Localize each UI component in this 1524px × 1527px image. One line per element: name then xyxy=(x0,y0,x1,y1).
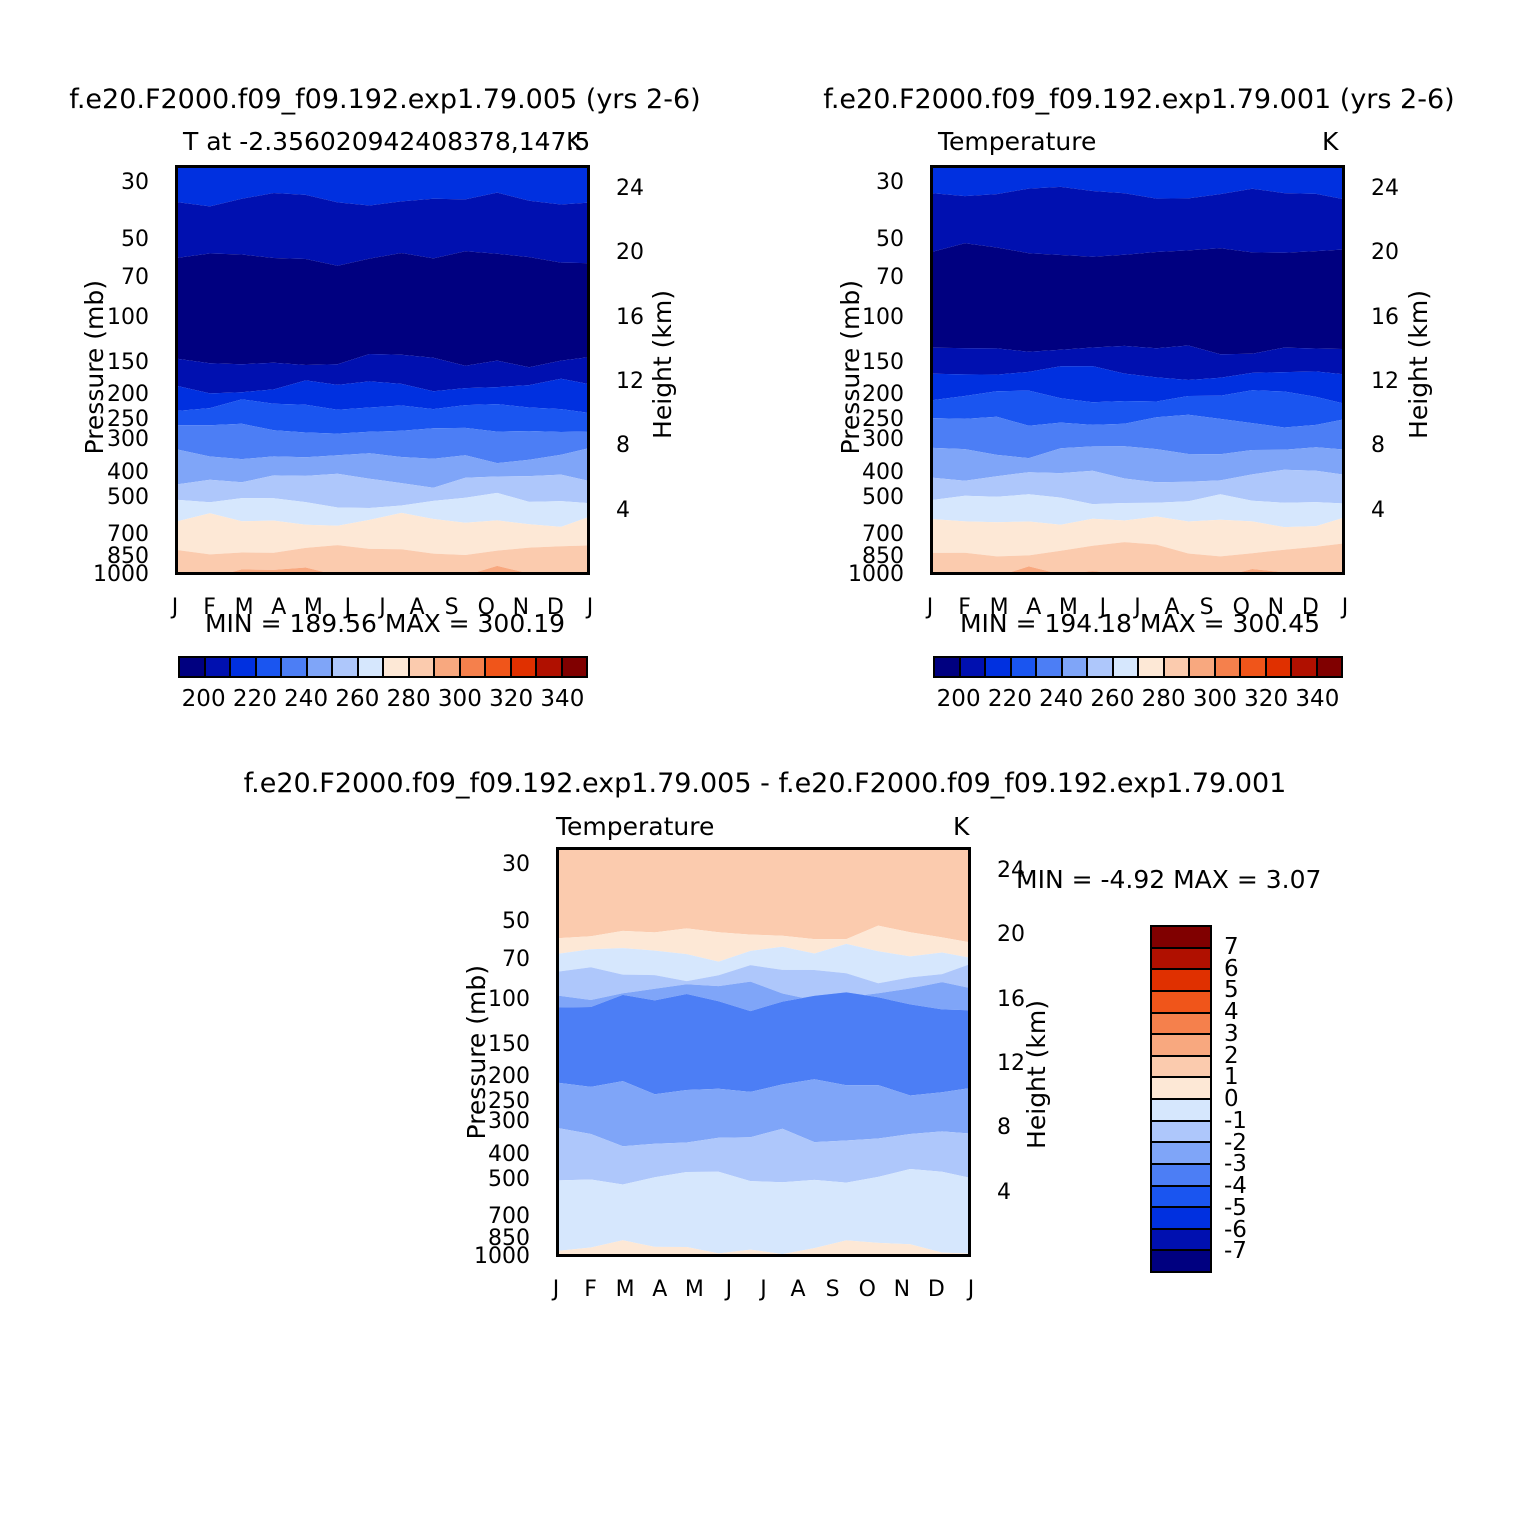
colorbar-swatch xyxy=(1152,1078,1210,1100)
month-tick-label: F xyxy=(950,595,980,620)
height-tick-label: 24 xyxy=(1371,176,1399,201)
pressure-tick-label: 70 xyxy=(502,947,530,972)
panel-title-case-005: f.e20.F2000.f09_f09.192.exp1.79.005 (yrs… xyxy=(10,84,760,115)
colorbar-swatch xyxy=(512,658,538,676)
month-tick xyxy=(246,165,249,168)
colorbar-swatch xyxy=(435,658,461,676)
pressure-tick-label: 70 xyxy=(876,265,904,290)
height-tick-label: 20 xyxy=(1371,240,1399,265)
month-tick xyxy=(211,165,214,168)
month-tick xyxy=(869,847,872,850)
panel-title-difference: f.e20.F2000.f09_f09.192.exp1.79.005 - f.… xyxy=(140,768,1390,799)
pressure-tick xyxy=(930,422,933,425)
pressure-tick-label: 500 xyxy=(488,1167,530,1192)
pressure-tick xyxy=(930,558,933,561)
month-tick xyxy=(246,572,249,575)
contour-panel-case-001 xyxy=(930,165,1345,575)
colorbar-swatch xyxy=(1292,658,1318,676)
month-tick xyxy=(592,847,595,850)
month-tick xyxy=(765,847,768,850)
colorbar-swatch xyxy=(961,658,987,676)
colorbar-swatch xyxy=(1216,658,1242,676)
height-tick-label: 16 xyxy=(1371,305,1399,330)
pressure-tick-label: 500 xyxy=(862,485,904,510)
height-tick xyxy=(1342,255,1345,258)
pressure-tick xyxy=(556,961,559,964)
contour-panel-case-005 xyxy=(175,165,590,575)
month-tick-label: M xyxy=(298,595,328,620)
month-tick xyxy=(384,572,387,575)
colorbar-swatch xyxy=(1152,970,1210,992)
colorbar-swatch xyxy=(384,658,410,676)
month-tick xyxy=(453,165,456,168)
colorbar-temperature-1 xyxy=(178,656,588,678)
month-tick-label: N xyxy=(1261,595,1291,620)
colorbar-swatch xyxy=(1152,949,1210,971)
colorbar-swatch xyxy=(1152,1251,1210,1271)
month-tick xyxy=(627,1254,630,1257)
month-tick-label: J xyxy=(1088,595,1118,620)
month-tick-label: M xyxy=(610,1277,640,1302)
pressure-tick xyxy=(556,1104,559,1107)
month-tick xyxy=(1104,165,1107,168)
month-tick xyxy=(933,165,936,168)
height-tick xyxy=(968,1001,971,1004)
month-tick xyxy=(419,165,422,168)
pressure-tick xyxy=(930,499,933,502)
pressure-tick-label: 200 xyxy=(488,1064,530,1089)
month-tick xyxy=(1277,165,1280,168)
pressure-tick-label: 300 xyxy=(107,427,149,452)
colorbar-swatch xyxy=(986,658,1012,676)
height-tick-label: 16 xyxy=(616,305,644,330)
month-tick xyxy=(938,847,941,850)
colorbar-swatch xyxy=(935,658,961,676)
pressure-tick-label: 200 xyxy=(862,382,904,407)
month-tick-label: J xyxy=(1123,595,1153,620)
month-tick xyxy=(800,847,803,850)
pressure-tick xyxy=(930,185,933,188)
pressure-tick xyxy=(930,397,933,400)
colorbar-tick-label: 340 xyxy=(1285,686,1349,712)
colorbar-swatch xyxy=(1152,1208,1210,1230)
colorbar-swatch xyxy=(1152,1057,1210,1079)
colorbar-swatch xyxy=(308,658,334,676)
colorbar-swatch xyxy=(231,658,257,676)
month-tick xyxy=(1208,572,1211,575)
colorbar-swatch xyxy=(1241,658,1267,676)
height-tick xyxy=(968,937,971,940)
height-tick-label: 8 xyxy=(616,433,630,458)
pressure-tick-label: 50 xyxy=(502,909,530,934)
month-tick-label: J xyxy=(541,1277,571,1302)
colorbar-swatch xyxy=(486,658,512,676)
pressure-tick xyxy=(556,1079,559,1082)
month-tick xyxy=(1139,165,1142,168)
height-tick xyxy=(587,191,590,194)
height-tick xyxy=(587,255,590,258)
month-tick-label: J xyxy=(160,595,190,620)
colorbar-swatch xyxy=(1152,1165,1210,1187)
pressure-tick xyxy=(175,365,178,368)
pressure-tick xyxy=(175,422,178,425)
month-tick xyxy=(1070,165,1073,168)
colorbar-swatch xyxy=(1267,658,1293,676)
pressure-tick xyxy=(556,1240,559,1243)
height-tick-label: 12 xyxy=(1371,369,1399,394)
minmax-difference: MIN = -4.92 MAX = 3.07 xyxy=(1016,865,1321,894)
height-tick xyxy=(587,384,590,387)
pressure-tick-label: 400 xyxy=(862,460,904,485)
month-tick xyxy=(211,572,214,575)
colorbar-swatch xyxy=(1190,658,1216,676)
month-tick-label: M xyxy=(1053,595,1083,620)
month-tick xyxy=(559,1254,562,1257)
pressure-tick-label: 50 xyxy=(121,227,149,252)
pressure-axis-label-left-3: Pressure (mb) xyxy=(462,965,491,1139)
month-tick xyxy=(903,847,906,850)
month-tick xyxy=(661,1254,664,1257)
colorbar-swatch xyxy=(1152,1230,1210,1252)
month-tick xyxy=(178,165,181,168)
month-tick xyxy=(592,1254,595,1257)
pressure-tick-label: 30 xyxy=(121,170,149,195)
month-tick xyxy=(938,1254,941,1257)
height-tick-label: 20 xyxy=(997,922,1025,947)
pressure-tick xyxy=(556,1156,559,1159)
height-tick-label: 24 xyxy=(997,858,1025,883)
colorbar-swatch xyxy=(1152,1122,1210,1144)
month-tick-label: D xyxy=(1295,595,1325,620)
pressure-tick-label: 100 xyxy=(488,987,530,1012)
colorbar-swatch xyxy=(180,658,206,676)
pressure-tick-label: 200 xyxy=(107,382,149,407)
height-tick-label: 4 xyxy=(616,498,630,523)
colorbar-swatch xyxy=(282,658,308,676)
month-tick xyxy=(1070,572,1073,575)
height-tick-label: 24 xyxy=(616,176,644,201)
month-tick-label: N xyxy=(887,1277,917,1302)
height-tick xyxy=(968,873,971,876)
month-tick xyxy=(730,847,733,850)
month-tick-label: J xyxy=(956,1277,986,1302)
pressure-tick-label: 30 xyxy=(876,170,904,195)
colorbar-swatch xyxy=(257,658,283,676)
month-tick xyxy=(1243,165,1246,168)
month-tick-label: S xyxy=(437,595,467,620)
pressure-tick-label: 50 xyxy=(876,227,904,252)
colorbar-swatch xyxy=(333,658,359,676)
colorbar-swatch xyxy=(410,658,436,676)
colorbar-swatch xyxy=(1152,927,1210,949)
pressure-tick xyxy=(175,442,178,445)
pressure-tick xyxy=(930,242,933,245)
colorbar-swatch xyxy=(1114,658,1140,676)
month-tick xyxy=(419,572,422,575)
month-tick-label: S xyxy=(818,1277,848,1302)
month-tick xyxy=(869,1254,872,1257)
month-tick xyxy=(178,572,181,575)
colorbar-temperature-2 xyxy=(933,656,1343,678)
colorbar-swatch xyxy=(1152,1035,1210,1057)
month-tick xyxy=(280,572,283,575)
month-tick-label: M xyxy=(229,595,259,620)
month-tick xyxy=(453,572,456,575)
month-tick xyxy=(522,165,525,168)
pressure-tick-label: 100 xyxy=(862,305,904,330)
pressure-tick xyxy=(930,279,933,282)
colorbar-tick-label: -7 xyxy=(1224,1238,1247,1264)
pressure-tick-label: 1000 xyxy=(848,562,904,587)
month-tick-label: J xyxy=(714,1277,744,1302)
month-tick-label: D xyxy=(540,595,570,620)
colorbar-swatch xyxy=(1037,658,1063,676)
height-tick xyxy=(1342,448,1345,451)
height-tick-label: 4 xyxy=(1371,498,1385,523)
month-tick xyxy=(557,165,560,168)
height-tick-label: 8 xyxy=(1371,433,1385,458)
month-tick xyxy=(1174,165,1177,168)
pressure-tick-label: 70 xyxy=(121,265,149,290)
height-tick-label: 20 xyxy=(616,240,644,265)
pressure-tick xyxy=(556,867,559,870)
month-tick xyxy=(1139,572,1142,575)
pressure-tick xyxy=(556,1124,559,1127)
height-tick xyxy=(1342,191,1345,194)
colorbar-swatch xyxy=(1318,658,1342,676)
contour-band xyxy=(933,243,1345,354)
contour-band xyxy=(559,992,971,1095)
month-tick-label: A xyxy=(264,595,294,620)
pressure-tick-label: 1000 xyxy=(93,562,149,587)
height-tick xyxy=(1342,319,1345,322)
month-tick-label: A xyxy=(1019,595,1049,620)
month-tick xyxy=(800,1254,803,1257)
contour-band xyxy=(178,251,590,367)
pressure-tick xyxy=(175,185,178,188)
month-tick xyxy=(696,847,699,850)
pressure-tick-label: 30 xyxy=(502,852,530,877)
height-tick xyxy=(587,319,590,322)
month-tick-label: J xyxy=(575,595,605,620)
colorbar-swatch xyxy=(1152,1143,1210,1165)
pressure-tick xyxy=(930,537,933,540)
pressure-tick xyxy=(930,442,933,445)
contour-band xyxy=(933,187,1345,257)
month-tick-label: A xyxy=(1157,595,1187,620)
month-tick xyxy=(1104,572,1107,575)
height-tick xyxy=(1342,384,1345,387)
panel-units-difference: K xyxy=(953,812,969,841)
panel-subtitle-difference: Temperature xyxy=(556,812,714,841)
month-tick-label: O xyxy=(471,595,501,620)
month-tick xyxy=(1035,165,1038,168)
height-tick xyxy=(1342,512,1345,515)
panel-subtitle-case-005: T at -2.356020942408378,147.5 xyxy=(183,127,590,156)
height-tick-label: 4 xyxy=(997,1180,1011,1205)
height-tick xyxy=(968,1194,971,1197)
month-tick-label: J xyxy=(749,1277,779,1302)
colorbar-swatch xyxy=(1152,1100,1210,1122)
month-tick-label: F xyxy=(576,1277,606,1302)
month-tick xyxy=(488,165,491,168)
month-tick xyxy=(557,572,560,575)
pressure-tick xyxy=(175,397,178,400)
month-tick-label: O xyxy=(852,1277,882,1302)
month-tick xyxy=(1312,572,1315,575)
month-tick xyxy=(661,847,664,850)
pressure-tick xyxy=(556,1047,559,1050)
pressure-tick-label: 150 xyxy=(488,1032,530,1057)
month-tick-label: J xyxy=(1330,595,1360,620)
pressure-tick xyxy=(175,279,178,282)
height-axis-label-right-2: Height (km) xyxy=(1404,290,1433,439)
month-tick-label: M xyxy=(984,595,1014,620)
pressure-tick-label: 300 xyxy=(862,427,904,452)
height-tick xyxy=(587,512,590,515)
month-tick xyxy=(1312,165,1315,168)
month-tick xyxy=(559,847,562,850)
colorbar-tick-label: 340 xyxy=(530,686,594,712)
month-tick-label: D xyxy=(921,1277,951,1302)
month-tick xyxy=(933,572,936,575)
height-tick xyxy=(968,1130,971,1133)
pressure-tick-label: 400 xyxy=(107,460,149,485)
month-tick xyxy=(1001,572,1004,575)
height-tick xyxy=(587,448,590,451)
month-tick xyxy=(966,572,969,575)
month-tick xyxy=(903,1254,906,1257)
month-tick xyxy=(488,572,491,575)
pressure-tick-label: 400 xyxy=(488,1142,530,1167)
colorbar-swatch xyxy=(206,658,232,676)
pressure-tick-label: 150 xyxy=(107,350,149,375)
pressure-tick-label: 300 xyxy=(488,1109,530,1134)
month-tick xyxy=(730,1254,733,1257)
colorbar-swatch xyxy=(1063,658,1089,676)
pressure-tick xyxy=(930,365,933,368)
colorbar-swatch xyxy=(359,658,385,676)
contour-band xyxy=(559,850,971,943)
month-tick-label: S xyxy=(1192,595,1222,620)
month-tick-label: M xyxy=(679,1277,709,1302)
month-tick xyxy=(1243,572,1246,575)
panel-subtitle-case-001: Temperature xyxy=(938,127,1096,156)
month-tick xyxy=(384,165,387,168)
colorbar-swatch xyxy=(1152,992,1210,1014)
month-tick-label: J xyxy=(915,595,945,620)
colorbar-difference xyxy=(1150,925,1212,1273)
panel-units-case-001: K xyxy=(1322,127,1338,156)
pressure-axis-label-left-1: Pressure (mb) xyxy=(80,280,109,454)
month-tick xyxy=(1208,165,1211,168)
colorbar-swatch xyxy=(1165,658,1191,676)
colorbar-swatch xyxy=(1152,1014,1210,1036)
month-tick-label: J xyxy=(368,595,398,620)
pressure-axis-label-left-2: Pressure (mb) xyxy=(836,280,865,454)
month-tick xyxy=(1174,572,1177,575)
height-axis-label-right-1: Height (km) xyxy=(648,290,677,439)
pressure-tick xyxy=(556,924,559,927)
month-tick xyxy=(315,572,318,575)
month-tick xyxy=(627,847,630,850)
month-tick xyxy=(765,1254,768,1257)
height-tick-label: 8 xyxy=(997,1115,1011,1140)
colorbar-swatch xyxy=(1152,1187,1210,1209)
height-tick-label: 12 xyxy=(616,369,644,394)
pressure-tick xyxy=(556,1181,559,1184)
month-tick xyxy=(1277,572,1280,575)
month-tick-label: N xyxy=(506,595,536,620)
contour-panel-difference xyxy=(556,847,971,1257)
month-tick xyxy=(966,165,969,168)
pressure-tick xyxy=(175,319,178,322)
month-tick xyxy=(522,572,525,575)
month-tick-label: A xyxy=(783,1277,813,1302)
pressure-tick xyxy=(175,474,178,477)
colorbar-swatch xyxy=(1012,658,1038,676)
pressure-tick xyxy=(556,1219,559,1222)
month-tick xyxy=(696,1254,699,1257)
colorbar-swatch xyxy=(1139,658,1165,676)
colorbar-swatch xyxy=(1088,658,1114,676)
height-axis-label-right-3: Height (km) xyxy=(1022,1000,1051,1149)
pressure-tick-label: 150 xyxy=(862,350,904,375)
pressure-tick-label: 100 xyxy=(107,305,149,330)
month-tick xyxy=(280,165,283,168)
month-tick xyxy=(1001,165,1004,168)
month-tick-label: O xyxy=(1226,595,1256,620)
month-tick xyxy=(834,1254,837,1257)
height-tick xyxy=(968,1066,971,1069)
height-tick-label: 12 xyxy=(997,1051,1025,1076)
month-tick-label: F xyxy=(195,595,225,620)
pressure-tick xyxy=(556,1001,559,1004)
height-tick-label: 16 xyxy=(997,987,1025,1012)
colorbar-swatch xyxy=(461,658,487,676)
month-tick-label: A xyxy=(645,1277,675,1302)
month-tick xyxy=(834,847,837,850)
month-tick-label: A xyxy=(402,595,432,620)
colorbar-swatch xyxy=(563,658,587,676)
pressure-tick xyxy=(175,499,178,502)
pressure-tick xyxy=(175,242,178,245)
pressure-tick xyxy=(175,558,178,561)
month-tick xyxy=(1035,572,1038,575)
month-tick xyxy=(315,165,318,168)
month-tick xyxy=(349,572,352,575)
pressure-tick-label: 1000 xyxy=(474,1244,530,1269)
pressure-tick xyxy=(175,537,178,540)
pressure-tick-label: 500 xyxy=(107,485,149,510)
pressure-tick xyxy=(930,319,933,322)
panel-title-case-001: f.e20.F2000.f09_f09.192.exp1.79.001 (yrs… xyxy=(764,84,1514,115)
panel-units-case-005: K xyxy=(566,127,582,156)
colorbar-swatch xyxy=(537,658,563,676)
month-tick xyxy=(349,165,352,168)
month-tick-label: J xyxy=(333,595,363,620)
pressure-tick xyxy=(930,474,933,477)
